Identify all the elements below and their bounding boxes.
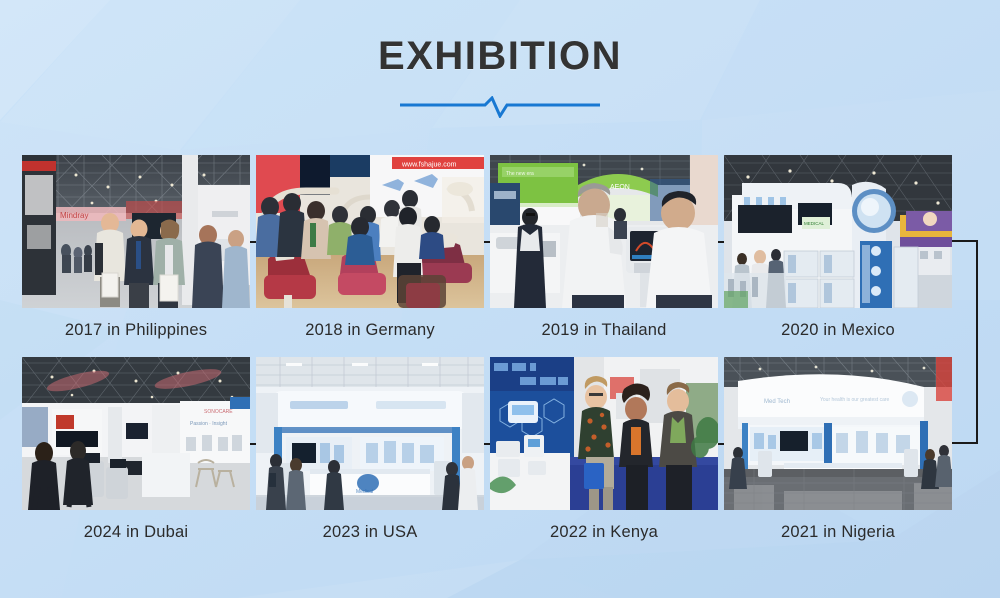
exhibition-photo-philippines[interactable]: Mindray	[22, 155, 250, 308]
svg-text:www.fshajue.com: www.fshajue.com	[401, 162, 457, 169]
photo-caption: 2017 in Philippines	[22, 321, 250, 340]
svg-text:MEDICAL: MEDICAL	[804, 221, 825, 226]
photo-caption: 2020 in Mexico	[724, 321, 952, 340]
photo-caption: 2021 in Nigeria	[724, 523, 952, 542]
gallery-item[interactable]: Medical	[256, 357, 484, 542]
bottom-white-strip	[0, 598, 1000, 607]
gallery-item[interactable]: Med Tech Your health is our greatest car…	[724, 357, 952, 542]
page-title: EXHIBITION	[0, 36, 1000, 76]
photo-caption: 2018 in Germany	[256, 321, 484, 340]
svg-text:AEON: AEON	[610, 184, 630, 191]
exhibition-photo-germany[interactable]: www.fshajue.com	[256, 155, 484, 308]
svg-text:Your health is our greatest ca: Your health is our greatest care	[820, 397, 890, 403]
exhibition-photo-kenya[interactable]	[490, 357, 718, 510]
gallery-item[interactable]: SONOCARE Passion · Insight	[22, 357, 250, 542]
exhibition-photo-usa[interactable]: Medical	[256, 357, 484, 510]
exhibition-photo-dubai[interactable]: SONOCARE Passion · Insight	[22, 357, 250, 510]
svg-text:Medical: Medical	[356, 489, 373, 495]
exhibition-photo-thailand[interactable]: The new era AEON	[490, 155, 718, 308]
page-header: EXHIBITION	[0, 36, 1000, 118]
photo-caption: 2023 in USA	[256, 523, 484, 542]
exhibition-gallery: Mindray	[0, 155, 1000, 557]
gallery-row-1: Mindray	[0, 155, 1000, 355]
gallery-item[interactable]: The new era AEON	[490, 155, 718, 340]
svg-text:Passion · Insight: Passion · Insight	[190, 421, 228, 427]
svg-text:Med Tech: Med Tech	[764, 399, 790, 405]
title-divider	[400, 96, 600, 118]
photo-caption: 2019 in Thailand	[490, 321, 718, 340]
gallery-item[interactable]: Mindray	[22, 155, 250, 340]
photo-caption: 2022 in Kenya	[490, 523, 718, 542]
svg-text:The new era: The new era	[506, 171, 534, 177]
svg-text:SONOCARE: SONOCARE	[204, 409, 233, 415]
pulse-divider-icon	[400, 96, 600, 118]
gallery-row-2: SONOCARE Passion · Insight	[0, 357, 1000, 557]
gallery-item[interactable]: www.fshajue.com	[256, 155, 484, 340]
photo-caption: 2024 in Dubai	[22, 523, 250, 542]
svg-text:Mindray: Mindray	[60, 211, 88, 220]
exhibition-page: EXHIBITION	[0, 0, 1000, 607]
exhibition-photo-nigeria[interactable]: Med Tech Your health is our greatest car…	[724, 357, 952, 510]
gallery-item[interactable]: 2022 in Kenya	[490, 357, 718, 542]
exhibition-photo-mexico[interactable]: MEDICAL	[724, 155, 952, 308]
gallery-item[interactable]: MEDICAL	[724, 155, 952, 340]
